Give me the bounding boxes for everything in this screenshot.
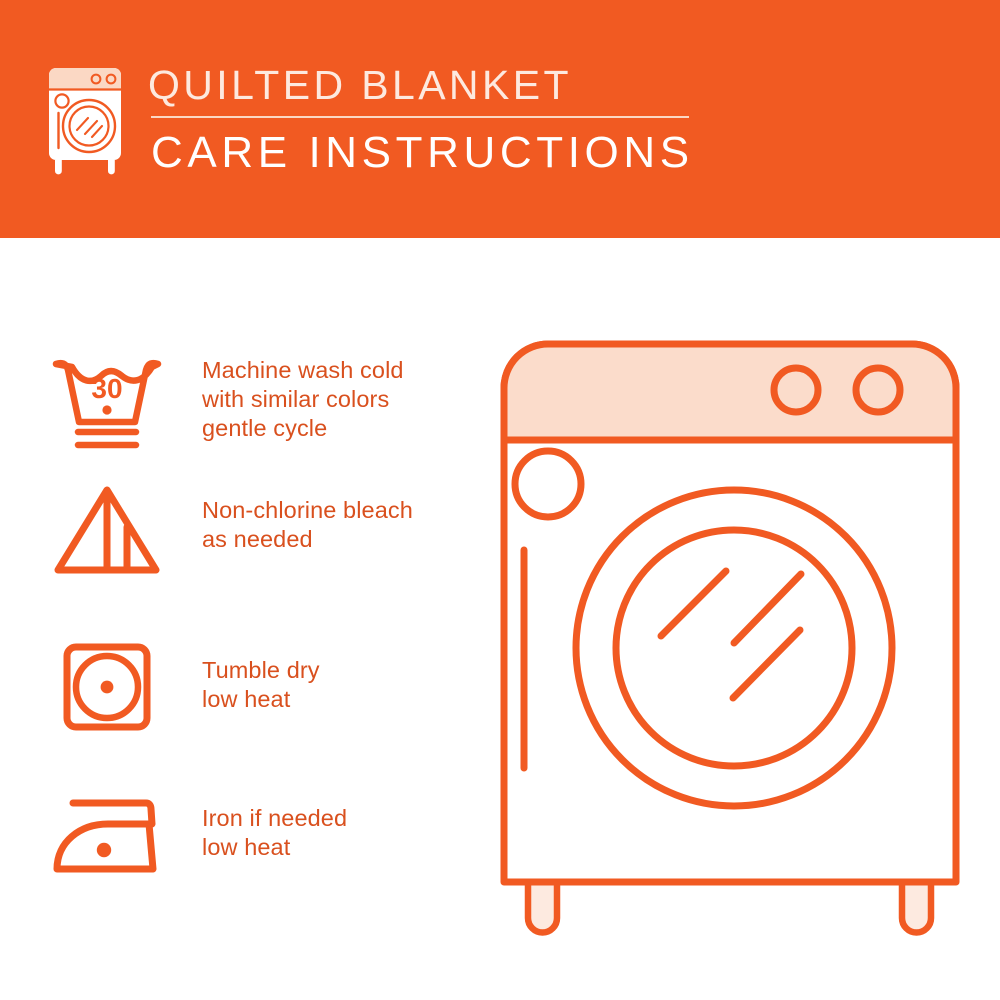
header-title-group: QUILTED BLANKET CARE INSTRUCTIONS [148,58,694,180]
title-divider-rule [151,116,689,118]
triangle-non-chlorine-bleach-icon [48,478,166,584]
list-item-label: Non-chlorine bleach as needed [202,478,413,554]
list-item: Non-chlorine bleach as needed [48,478,413,584]
front-load-washing-machine-illustration [478,318,990,948]
wash-temperature-value: 30 [91,373,122,404]
list-item-label: Iron if needed low heat [202,786,347,862]
header-banner: QUILTED BLANKET CARE INSTRUCTIONS [0,0,1000,238]
care-instruction-list: 30 Machine wash cold with similar colors… [0,238,480,1000]
list-item-label: Machine wash cold with similar colors ge… [202,350,404,443]
list-item: Tumble dry low heat [48,634,320,740]
page-title-primary: QUILTED BLANKET [148,58,694,112]
control-panel [504,344,956,440]
tumble-dry-low-heat-icon [48,634,166,740]
leg-left [528,878,557,933]
header-content: QUILTED BLANKET CARE INSTRUCTIONS [44,58,694,180]
list-item: Iron if needed low heat [48,786,347,892]
wash-tub-30-gentle-icon: 30 [48,350,166,456]
washing-machine-icon [44,64,130,176]
page-title-secondary: CARE INSTRUCTIONS [151,126,694,180]
leg-right [902,878,931,933]
list-item-label: Tumble dry low heat [202,634,320,714]
list-item: 30 Machine wash cold with similar colors… [48,350,404,456]
iron-low-heat-icon [48,786,166,892]
